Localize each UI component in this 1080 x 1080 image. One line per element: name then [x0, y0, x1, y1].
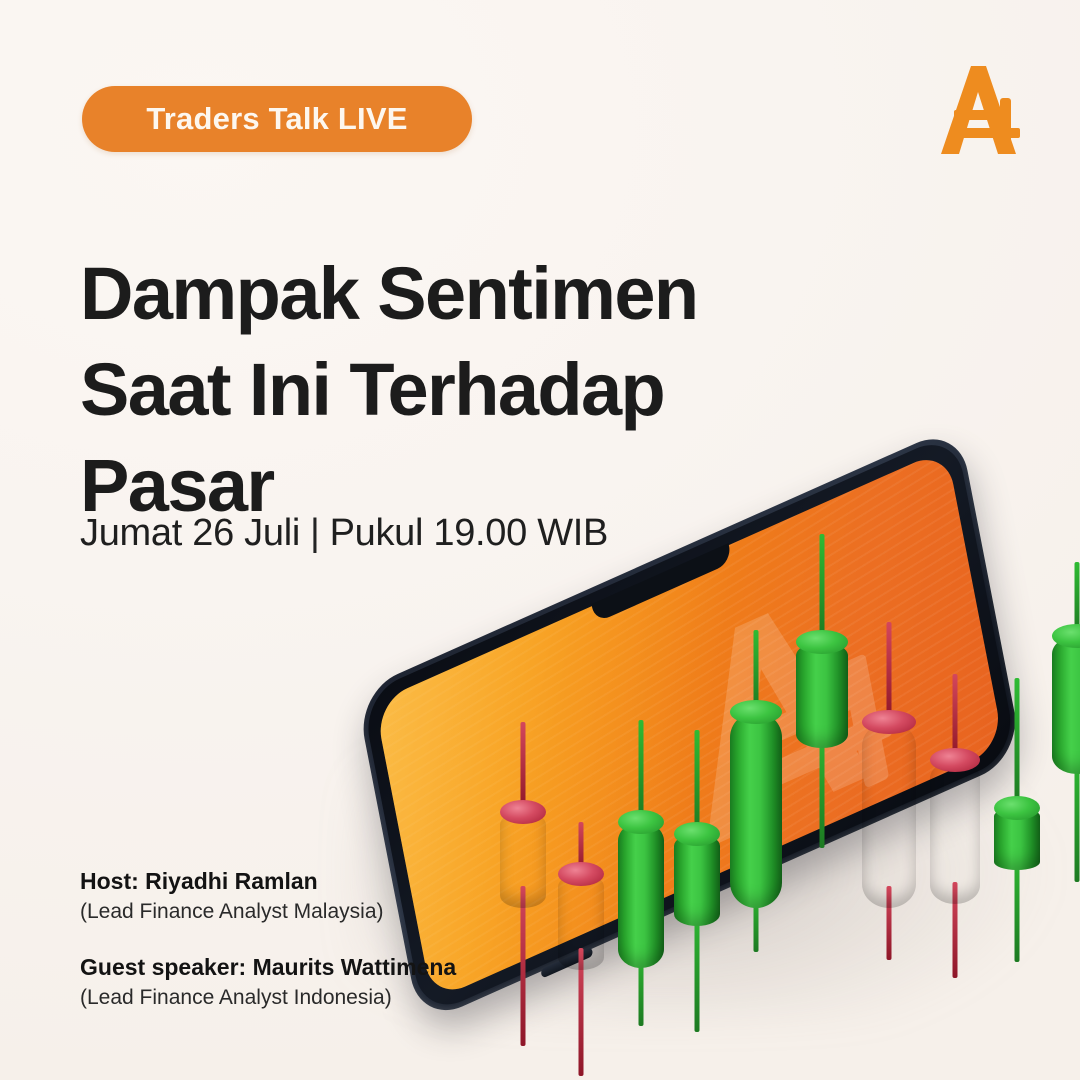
- event-date: Jumat 26 Juli: [80, 512, 300, 554]
- live-badge-label: Traders Talk LIVE: [146, 101, 407, 137]
- schedule-separator: |: [310, 512, 320, 555]
- page-title: Dampak Sentimen Saat Ini Terhadap Pasar: [80, 246, 800, 535]
- brand-a-logo: [938, 62, 1032, 158]
- speaker-credits: Host: Riyadhi Ramlan (Lead Finance Analy…: [80, 866, 456, 1013]
- event-time: Pukul 19.00 WIB: [330, 512, 609, 554]
- guest-name: Guest speaker: Maurits Wattimena: [80, 952, 456, 983]
- headline-line-1: Dampak Sentimen: [80, 246, 800, 342]
- credit-host: Host: Riyadhi Ramlan (Lead Finance Analy…: [80, 866, 456, 926]
- credit-guest: Guest speaker: Maurits Wattimena (Lead F…: [80, 952, 456, 1012]
- live-badge: Traders Talk LIVE: [82, 86, 472, 152]
- host-name: Host: Riyadhi Ramlan: [80, 866, 456, 897]
- promo-poster: Traders Talk LIVE Dampak Sentimen Saat I…: [0, 0, 1080, 1080]
- host-role: (Lead Finance Analyst Malaysia): [80, 897, 456, 926]
- guest-role: (Lead Finance Analyst Indonesia): [80, 983, 456, 1012]
- event-schedule: Jumat 26 Juli|Pukul 19.00 WIB: [80, 512, 608, 555]
- headline-line-2: Saat Ini Terhadap: [80, 342, 800, 438]
